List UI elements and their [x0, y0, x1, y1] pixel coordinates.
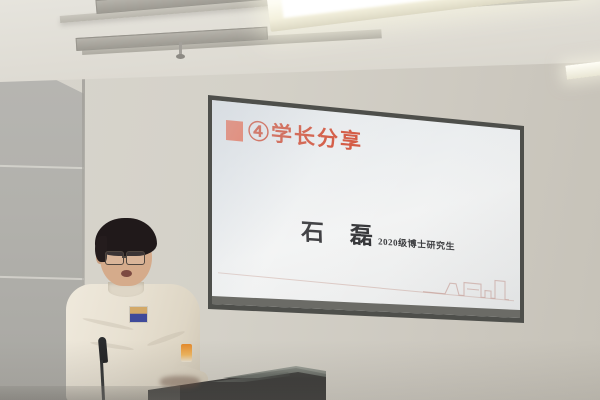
slide: ④学长分享 石 磊 2020级博士研究生: [215, 102, 517, 327]
lecture-room-photo: ④学长分享 石 磊 2020级博士研究生: [0, 0, 600, 400]
skyline-icon: [423, 270, 509, 302]
eyeglasses-icon: [122, 256, 127, 258]
slide-accent-block: [226, 120, 243, 142]
eyeglasses-icon: [126, 251, 145, 265]
presenter-mouth: [121, 270, 132, 277]
slide-presenter-name: 石 磊: [301, 212, 384, 252]
slide-title: ④学长分享: [248, 115, 363, 156]
sprinkler-icon: [176, 54, 185, 59]
eyeglasses-icon: [105, 251, 124, 265]
slide-presenter-subtitle: 2020级博士研究生: [378, 234, 455, 252]
chest-logo-patch: [129, 306, 148, 323]
wall-shadow: [0, 340, 600, 400]
projection-screen: ④学长分享 石 磊 2020级博士研究生: [203, 90, 529, 330]
